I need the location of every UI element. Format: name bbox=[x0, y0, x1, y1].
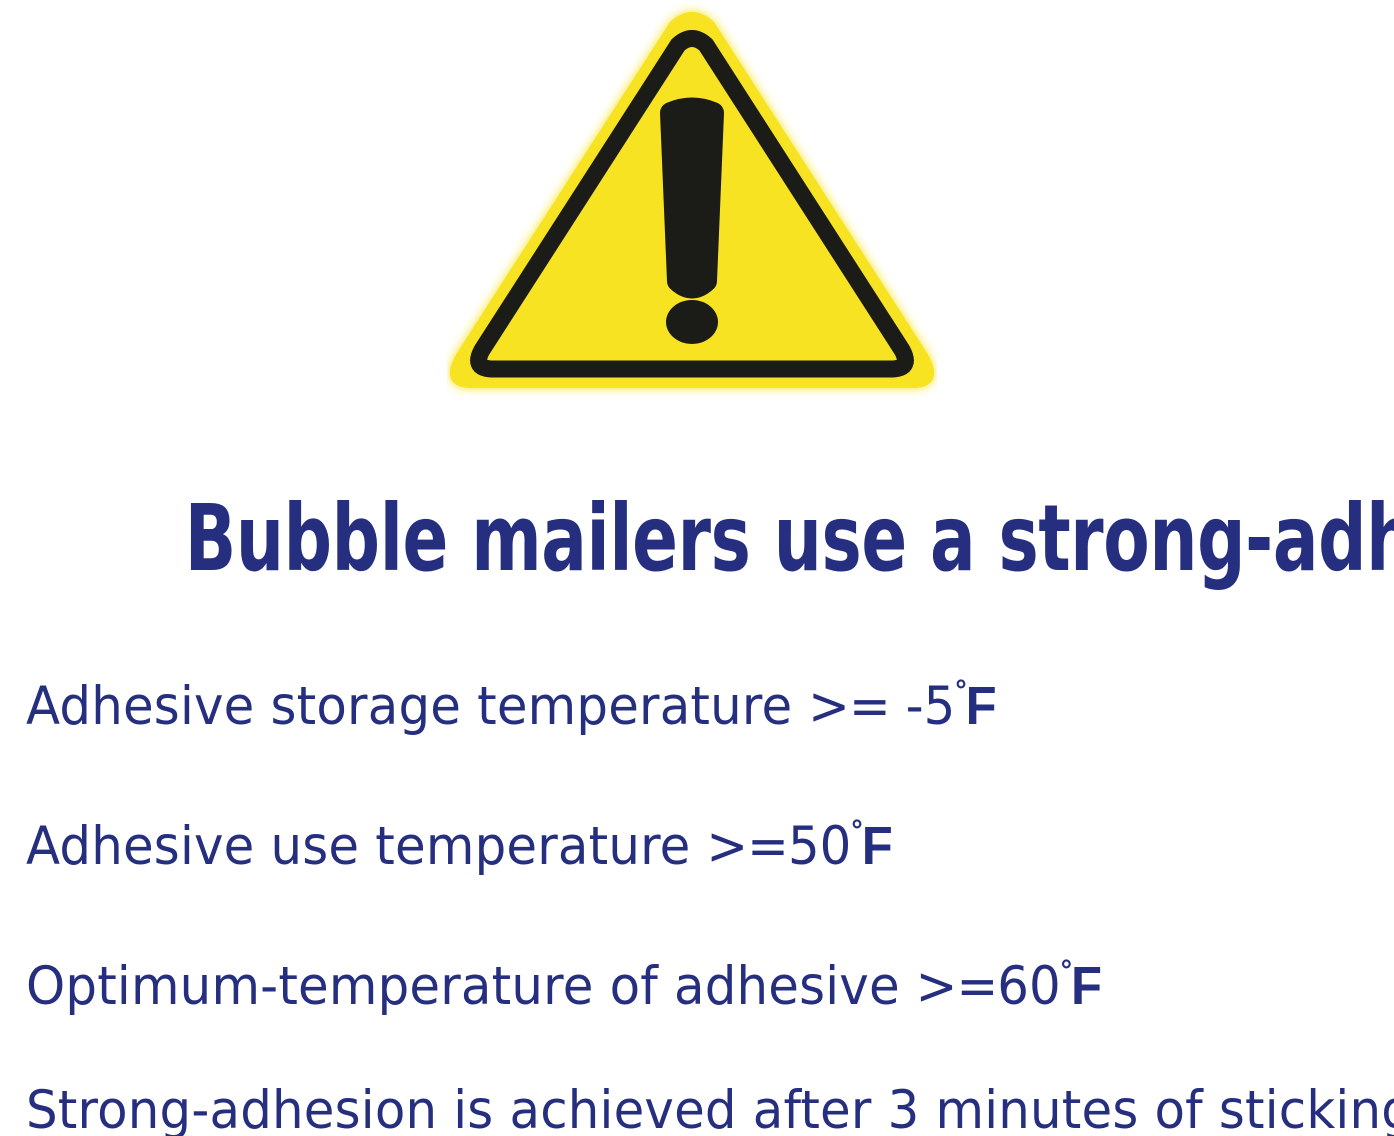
page-title: Bubble mailers use a strong-adhesive bbox=[185, 487, 1210, 591]
warning-triangle-exclamation-icon bbox=[447, 0, 937, 400]
list-item: Strong-adhesion is achieved after 3 minu… bbox=[26, 1080, 1304, 1136]
spec-label: Adhesive use temperature bbox=[26, 816, 691, 877]
spec-unit: °F bbox=[955, 676, 995, 736]
fahrenheit-letter: F bbox=[1071, 956, 1101, 1016]
spec-label: Adhesive storage temperature bbox=[26, 676, 792, 737]
list-item: Optimum-temperature of adhesive >=60°F bbox=[26, 940, 1304, 1018]
spec-label: Strong-adhesion is achieved after 3 minu… bbox=[26, 1080, 1394, 1136]
exclamation-dot bbox=[666, 300, 718, 344]
spec-operator: >= bbox=[916, 956, 998, 1017]
spec-value: -5 bbox=[906, 676, 956, 737]
spec-unit: °F bbox=[851, 816, 891, 876]
list-item: Adhesive use temperature >=50°F bbox=[26, 800, 1304, 878]
spec-operator: >= bbox=[706, 816, 788, 877]
degree-symbol: ° bbox=[955, 674, 965, 707]
spec-value: 60 bbox=[997, 956, 1060, 1017]
spec-operator: >= bbox=[808, 676, 890, 737]
fahrenheit-letter: F bbox=[966, 676, 996, 736]
spec-list: Adhesive storage temperature >= -5°F Adh… bbox=[26, 660, 1386, 1136]
spec-value: 50 bbox=[788, 816, 851, 877]
exclamation-bar bbox=[671, 109, 713, 288]
spec-label: Optimum-temperature of adhesive bbox=[26, 956, 900, 1017]
product-infographic-page: Bubble mailers use a strong-adhesive Adh… bbox=[0, 0, 1394, 1136]
degree-symbol: ° bbox=[1061, 954, 1071, 987]
fahrenheit-letter: F bbox=[862, 816, 892, 876]
list-item: Adhesive storage temperature >= -5°F bbox=[26, 660, 1304, 738]
degree-symbol: ° bbox=[851, 814, 861, 847]
spec-unit: °F bbox=[1061, 956, 1101, 1016]
